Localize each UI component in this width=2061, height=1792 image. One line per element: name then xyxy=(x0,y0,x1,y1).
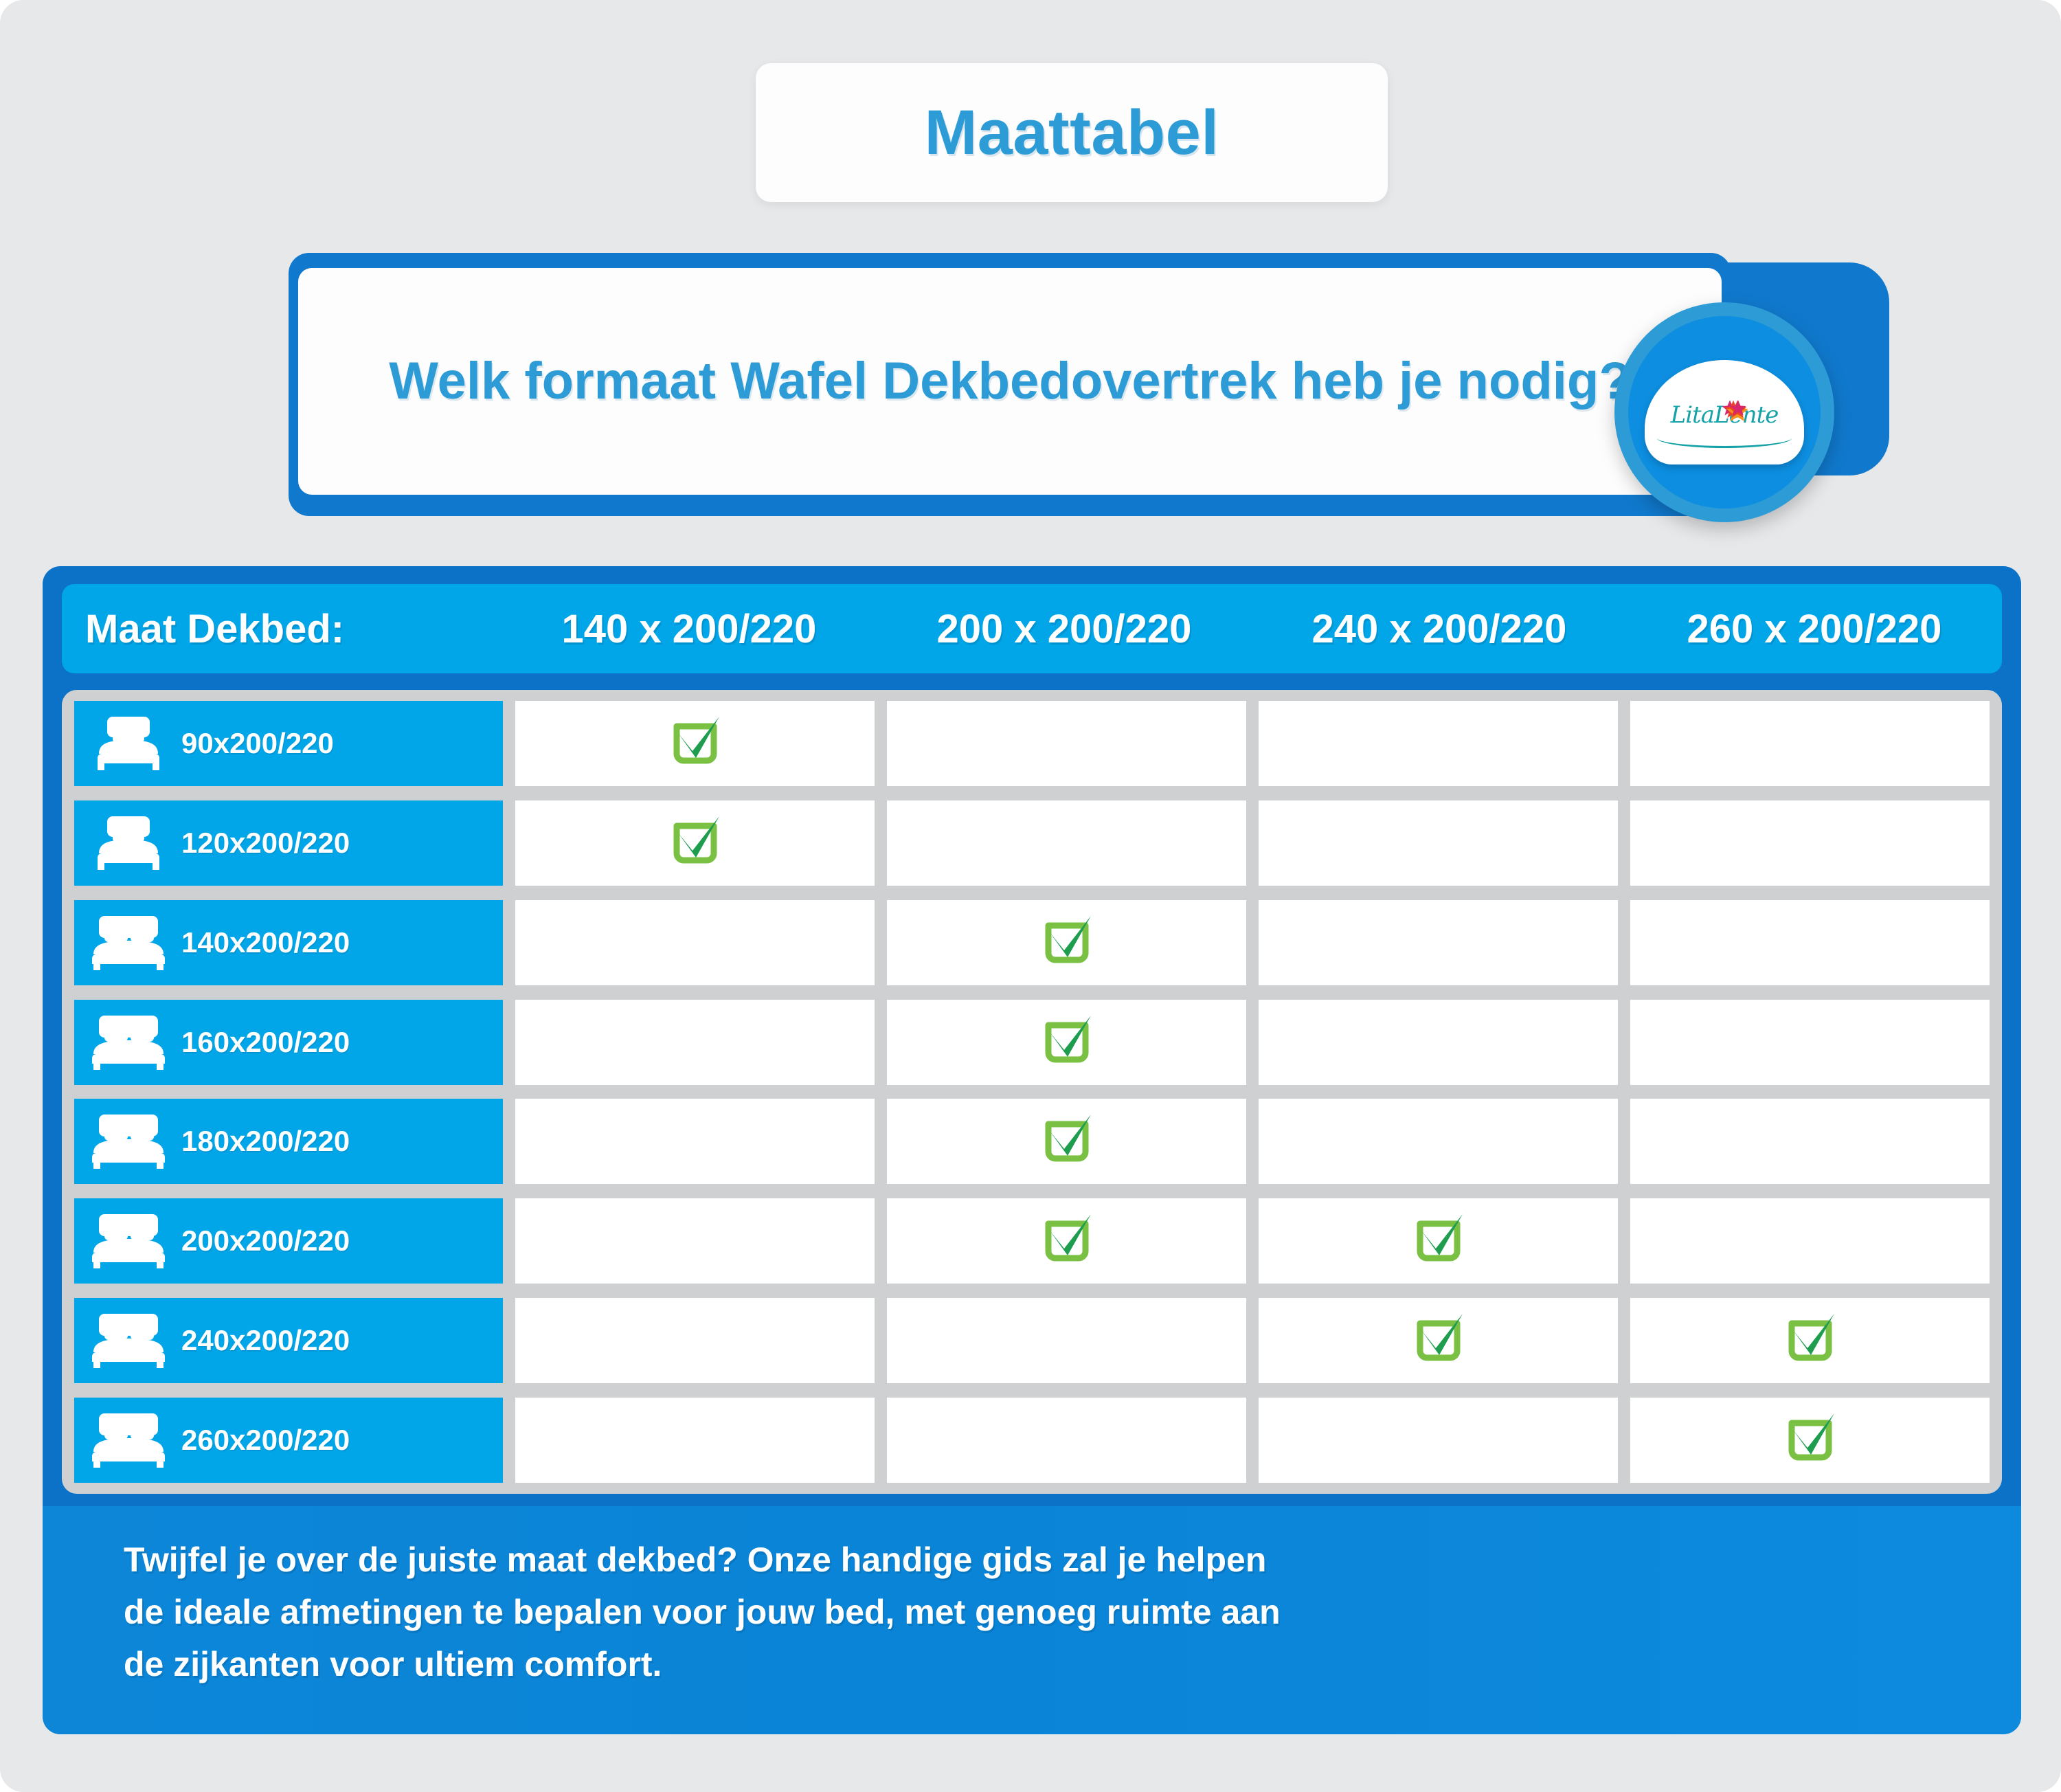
table-row: 140x200/220 xyxy=(74,900,1990,985)
table-cell-r8-c4[interactable] xyxy=(1630,1398,1990,1483)
check-icon xyxy=(1785,1314,1836,1367)
row-cells xyxy=(515,1099,1990,1184)
row-label-180x200/220: 180x200/220 xyxy=(74,1099,503,1184)
panel-footer: Twijfel je over de juiste maat dekbed? O… xyxy=(43,1506,2021,1734)
table-header-label: Maat Dekbed: xyxy=(62,606,502,652)
table-cell-r4-c4[interactable] xyxy=(1630,1000,1990,1085)
check-icon xyxy=(1041,1115,1092,1168)
subtitle-banner-inner: Welk formaat Wafel Dekbedovertrek heb je… xyxy=(298,268,1722,495)
double-bed-icon xyxy=(92,1113,165,1169)
table-cell-r2-c1[interactable] xyxy=(515,800,875,886)
table-cell-r6-c4[interactable] xyxy=(1630,1198,1990,1284)
footer-text: Twijfel je over de juiste maat dekbed? O… xyxy=(124,1534,1973,1690)
table-cell-r5-c1[interactable] xyxy=(515,1099,875,1184)
row-label-text: 180x200/220 xyxy=(181,1125,350,1158)
row-label-text: 160x200/220 xyxy=(181,1026,350,1059)
table-row: 120x200/220 xyxy=(74,800,1990,886)
table-cell-r1-c2[interactable] xyxy=(887,701,1246,786)
double-bed-icon xyxy=(92,1412,165,1468)
table-cell-r7-c3[interactable] xyxy=(1259,1298,1618,1383)
infographic-page: Maattabel Welk formaat Wafel Dekbedovert… xyxy=(0,0,2061,1792)
size-table-panel: Maat Dekbed: 140 x 200/220 200 x 200/220… xyxy=(43,566,2021,1734)
table-cell-r2-c3[interactable] xyxy=(1259,800,1618,886)
logo-star-rating xyxy=(1720,371,1728,399)
row-label-text: 240x200/220 xyxy=(181,1324,350,1357)
logo-swoosh-icon xyxy=(1657,428,1792,448)
table-cell-r7-c1[interactable] xyxy=(515,1298,875,1383)
double-bed-icon xyxy=(92,1213,165,1269)
table-cell-r6-c2[interactable] xyxy=(887,1198,1246,1284)
table-row: 240x200/220 xyxy=(74,1298,1990,1383)
row-label-text: 200x200/220 xyxy=(181,1224,350,1257)
table-cell-r7-c4[interactable] xyxy=(1630,1298,1990,1383)
table-cell-r8-c2[interactable] xyxy=(887,1398,1246,1483)
table-cell-r7-c2[interactable] xyxy=(887,1298,1246,1383)
page-title: Maattabel xyxy=(925,97,1219,169)
row-cells xyxy=(515,800,1990,886)
subtitle-text: Welk formaat Wafel Dekbedovertrek heb je… xyxy=(348,350,1672,412)
row-label-260x200/220: 260x200/220 xyxy=(74,1398,503,1483)
check-icon xyxy=(1413,1314,1464,1367)
table-header-row: Maat Dekbed: 140 x 200/220 200 x 200/220… xyxy=(62,584,2002,673)
row-label-90x200/220: 90x200/220 xyxy=(74,701,503,786)
table-cell-r8-c3[interactable] xyxy=(1259,1398,1618,1483)
table-cell-r2-c4[interactable] xyxy=(1630,800,1990,886)
check-icon xyxy=(1413,1214,1464,1268)
row-label-text: 120x200/220 xyxy=(181,827,350,860)
column-header-2: 200 x 200/220 xyxy=(877,606,1252,652)
table-cell-r3-c4[interactable] xyxy=(1630,900,1990,985)
row-cells xyxy=(515,1398,1990,1483)
row-cells xyxy=(515,701,1990,786)
check-icon xyxy=(1041,1214,1092,1268)
check-icon xyxy=(1041,1016,1092,1069)
logo-inner-circle: LitaLente xyxy=(1628,316,1821,508)
check-icon xyxy=(670,816,721,870)
table-row: 260x200/220 xyxy=(74,1398,1990,1483)
double-bed-icon xyxy=(92,1312,165,1369)
table-cell-r5-c2[interactable] xyxy=(887,1099,1246,1184)
row-label-text: 260x200/220 xyxy=(181,1424,350,1457)
table-cell-r4-c2[interactable] xyxy=(887,1000,1246,1085)
row-cells xyxy=(515,900,1990,985)
table-cell-r3-c2[interactable] xyxy=(887,900,1246,985)
row-label-200x200/220: 200x200/220 xyxy=(74,1198,503,1284)
table-cell-r5-c3[interactable] xyxy=(1259,1099,1618,1184)
single-bed-icon xyxy=(92,715,165,772)
table-cell-r3-c1[interactable] xyxy=(515,900,875,985)
single-bed-icon xyxy=(92,815,165,871)
row-cells xyxy=(515,1198,1990,1284)
logo-plate: LitaLente xyxy=(1645,360,1804,464)
table-cell-r4-c3[interactable] xyxy=(1259,1000,1618,1085)
table-cell-r1-c4[interactable] xyxy=(1630,701,1990,786)
table-cell-r4-c1[interactable] xyxy=(515,1000,875,1085)
brand-logo-badge: LitaLente xyxy=(1614,302,1834,522)
check-icon xyxy=(1041,916,1092,970)
double-bed-icon xyxy=(92,915,165,971)
row-label-text: 140x200/220 xyxy=(181,926,350,959)
table-cell-r1-c3[interactable] xyxy=(1259,701,1618,786)
table-cell-r8-c1[interactable] xyxy=(515,1398,875,1483)
check-icon xyxy=(670,717,721,770)
column-header-1: 140 x 200/220 xyxy=(502,606,877,652)
column-header-4: 260 x 200/220 xyxy=(1627,606,2002,652)
table-row: 160x200/220 xyxy=(74,1000,1990,1085)
table-cell-r3-c3[interactable] xyxy=(1259,900,1618,985)
table-cell-r6-c1[interactable] xyxy=(515,1198,875,1284)
row-label-240x200/220: 240x200/220 xyxy=(74,1298,503,1383)
table-cell-r2-c2[interactable] xyxy=(887,800,1246,886)
table-cell-r5-c4[interactable] xyxy=(1630,1099,1990,1184)
table-row: 200x200/220 xyxy=(74,1198,1990,1284)
row-label-160x200/220: 160x200/220 xyxy=(74,1000,503,1085)
row-cells xyxy=(515,1000,1990,1085)
table-cell-r6-c3[interactable] xyxy=(1259,1198,1618,1284)
table-body: 90x200/220120x200/220140x200/220160x200/… xyxy=(62,690,2002,1494)
table-row: 180x200/220 xyxy=(74,1099,1990,1184)
table-cell-r1-c1[interactable] xyxy=(515,701,875,786)
row-cells xyxy=(515,1298,1990,1383)
check-icon xyxy=(1785,1413,1836,1467)
row-label-140x200/220: 140x200/220 xyxy=(74,900,503,985)
double-bed-icon xyxy=(92,1014,165,1071)
title-card: Maattabel xyxy=(756,63,1388,202)
row-label-120x200/220: 120x200/220 xyxy=(74,800,503,886)
column-header-3: 240 x 200/220 xyxy=(1252,606,1627,652)
table-row: 90x200/220 xyxy=(74,701,1990,786)
subtitle-banner-frame: Welk formaat Wafel Dekbedovertrek heb je… xyxy=(289,253,1731,516)
row-label-text: 90x200/220 xyxy=(181,727,334,760)
